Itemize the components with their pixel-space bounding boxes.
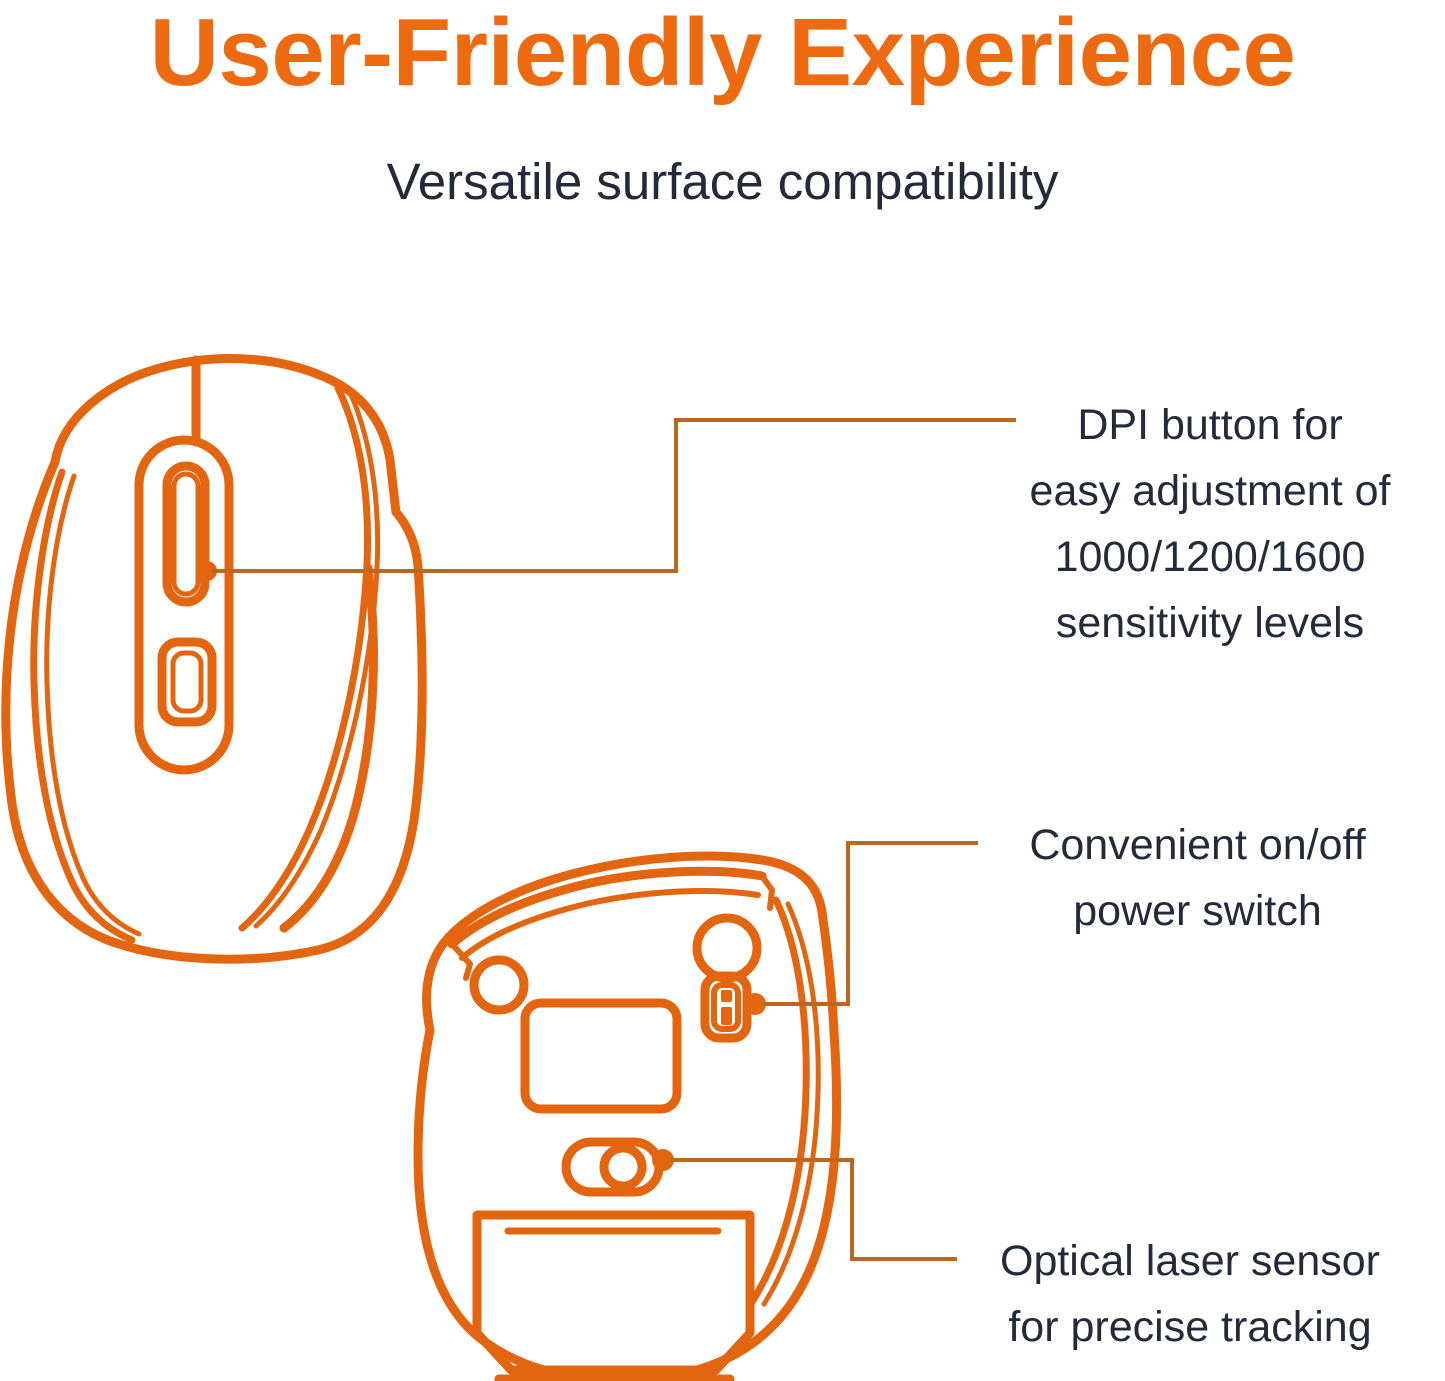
page-title: User-Friendly Experience [0, 2, 1445, 104]
battery-compartment [525, 1003, 677, 1109]
underside-accent-right-inner [764, 904, 818, 1304]
top-glide-band-right-tip [762, 876, 772, 908]
underside-accent-right [752, 900, 806, 1302]
right-foot [697, 918, 757, 978]
header: User-Friendly Experience Versatile surfa… [0, 0, 1445, 235]
side-accent-line-left-inner [47, 476, 139, 934]
sensor-callout-dot [652, 1149, 674, 1171]
infographic-page: User-Friendly Experience Versatile surfa… [0, 0, 1445, 1381]
page-subtitle: Versatile surface compatibility [0, 152, 1445, 212]
battery-door [477, 1215, 750, 1370]
callout-sensor-line-1: Optical laser sensor [955, 1228, 1425, 1294]
callout-optical-sensor: Optical laser sensor for precise trackin… [955, 1228, 1425, 1360]
scroll-wheel-inner [174, 474, 198, 594]
callout-dpi-line-3: 1000/1200/1600 [995, 524, 1425, 590]
mouse-top-view [6, 359, 422, 960]
product-illustration [0, 330, 1000, 1381]
power-callout-dot [744, 993, 766, 1015]
dpi-callout-dot [197, 561, 217, 581]
mouse-bottom-view [418, 856, 837, 1381]
power-switch-toggle-upper [721, 990, 732, 1002]
callout-dpi-line-1: DPI button for [995, 392, 1425, 458]
callout-power-line-2: power switch [975, 878, 1420, 944]
optical-sensor-lens [604, 1148, 642, 1186]
left-foot [474, 960, 524, 1010]
callout-power-switch: Convenient on/off power switch [975, 812, 1420, 944]
callout-dpi-button: DPI button for easy adjustment of 1000/1… [995, 392, 1425, 656]
power-switch-toggle-lower [721, 1007, 732, 1025]
side-accent-line-right [242, 388, 368, 928]
callout-sensor-line-2: for precise tracking [955, 1294, 1425, 1360]
dpi-button-inner [173, 653, 201, 711]
callout-power-line-1: Convenient on/off [975, 812, 1420, 878]
callout-dpi-line-4: sensitivity levels [995, 590, 1425, 656]
callout-dpi-line-2: easy adjustment of [995, 458, 1425, 524]
top-glide-band-left-tip [452, 944, 470, 978]
